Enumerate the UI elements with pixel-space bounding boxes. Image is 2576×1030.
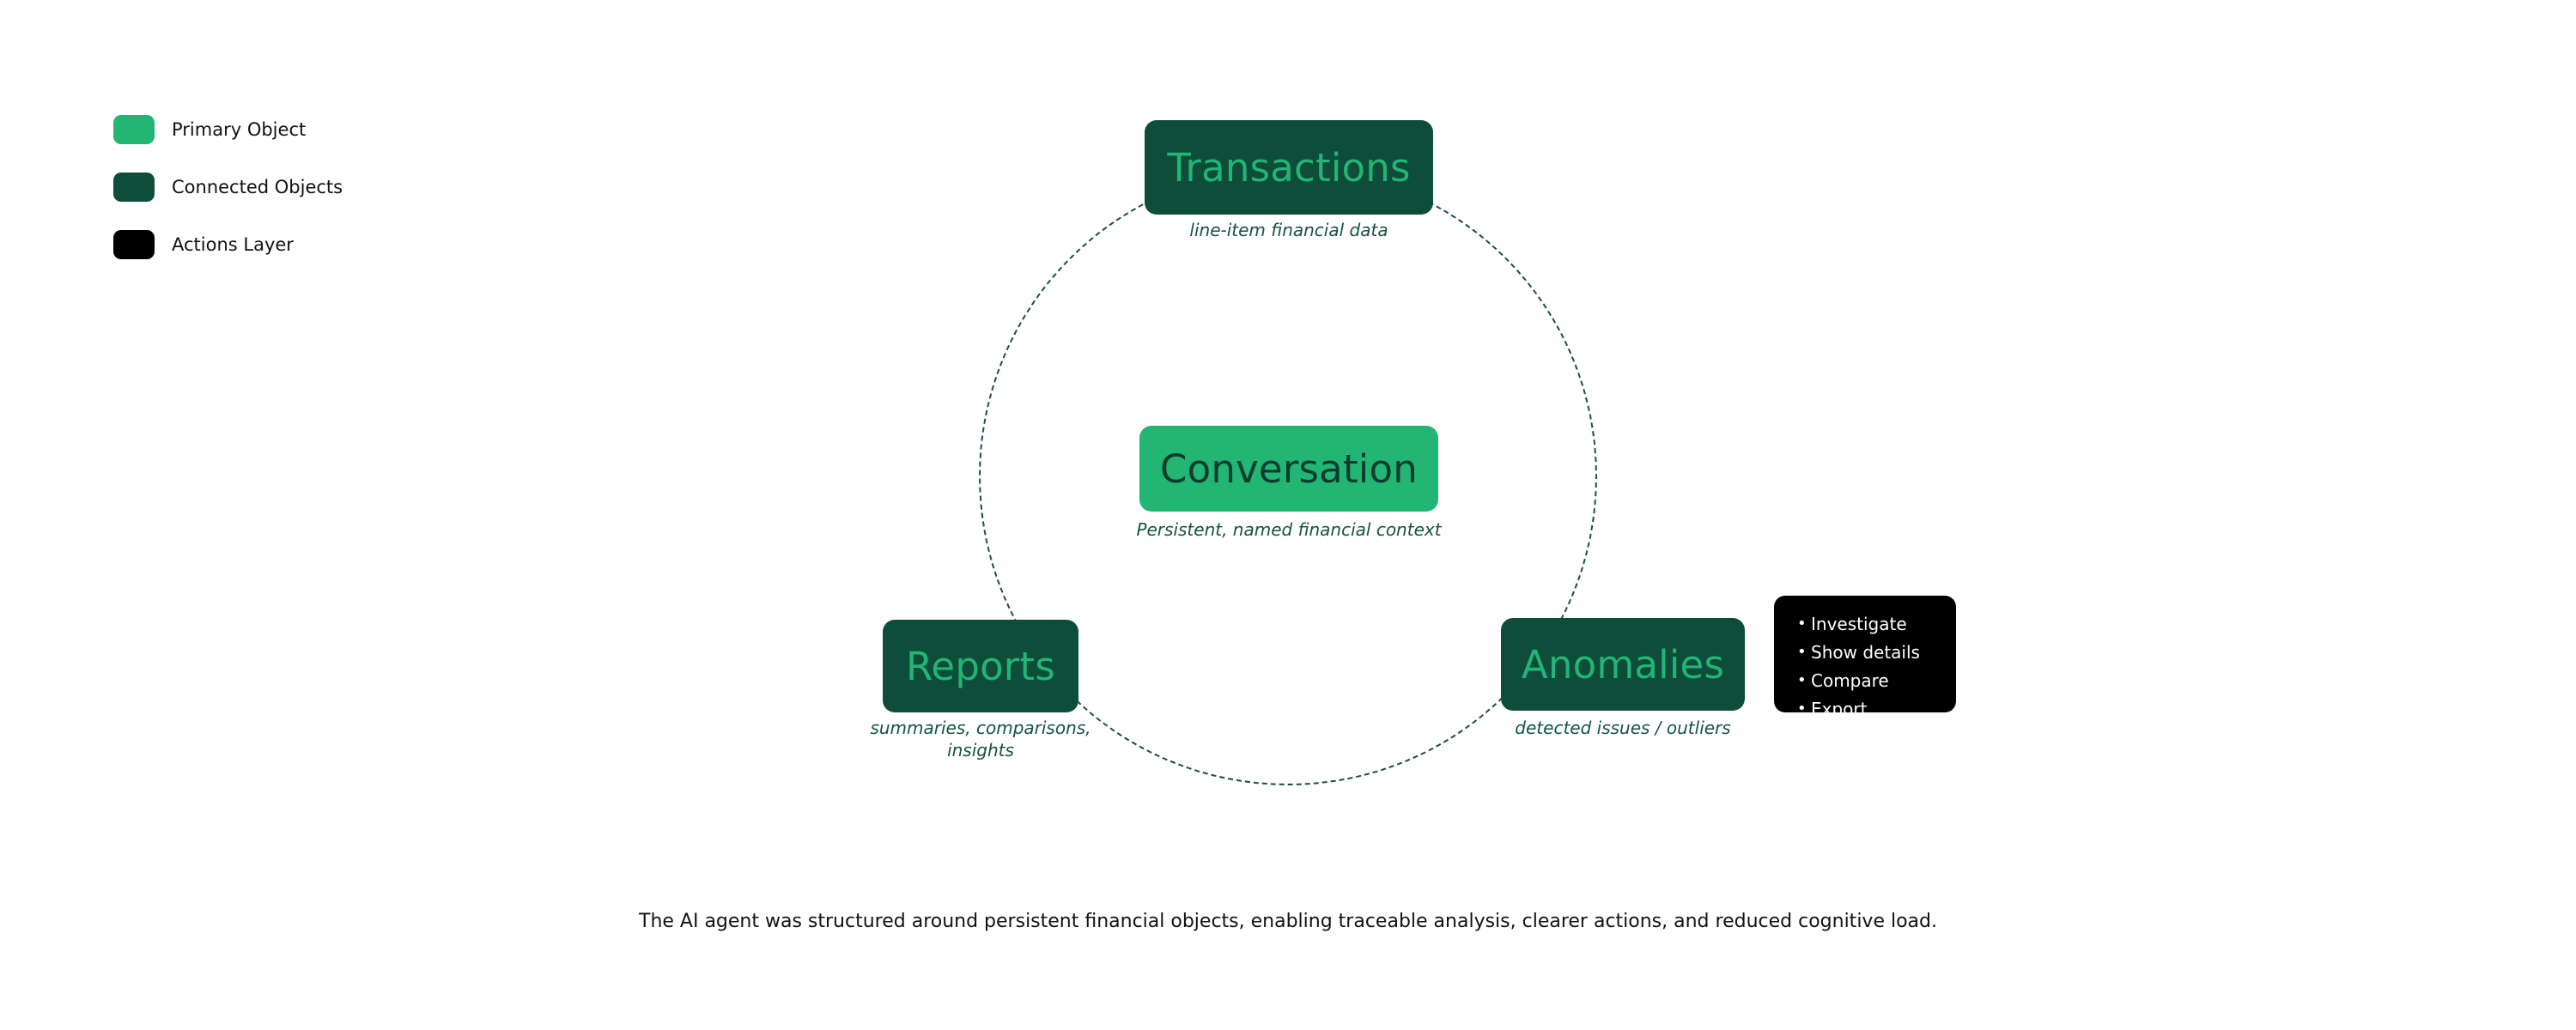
legend-item-actions-layer: Actions Layer bbox=[113, 230, 474, 259]
action-item-label: Compare bbox=[1811, 672, 1889, 689]
node-reports-label: Reports bbox=[906, 647, 1055, 686]
legend-item-primary-object: Primary Object bbox=[113, 115, 474, 144]
node-reports-caption: summaries, comparisons, insights bbox=[824, 718, 1137, 761]
bullet-icon: • bbox=[1797, 645, 1811, 660]
footer-caption: The AI agent was structured around persi… bbox=[0, 910, 2576, 935]
legend-item-connected-objects: Connected Objects bbox=[113, 173, 474, 202]
legend: Primary Object Connected Objects Actions… bbox=[113, 115, 474, 288]
legend-item-label: Connected Objects bbox=[172, 179, 343, 197]
legend-item-label: Actions Layer bbox=[172, 236, 294, 254]
actions-layer-swatch-icon bbox=[113, 230, 155, 259]
bullet-icon: • bbox=[1797, 701, 1811, 717]
action-item-label: Investigate bbox=[1811, 615, 1907, 633]
node-conversation-caption: Persistent, named financial context bbox=[1074, 519, 1504, 542]
node-transactions-caption: line-item financial data bbox=[1102, 220, 1476, 242]
node-transactions-label: Transactions bbox=[1167, 148, 1410, 187]
action-item-compare[interactable]: • Compare bbox=[1774, 666, 1956, 694]
actions-panel: • Investigate • Show details • Compare •… bbox=[1774, 596, 1956, 712]
connected-objects-swatch-icon bbox=[113, 173, 155, 202]
action-item-label: Export bbox=[1811, 700, 1867, 718]
bullet-icon: • bbox=[1797, 616, 1811, 632]
node-anomalies-caption: detected issues / outliers bbox=[1460, 718, 1786, 740]
node-conversation[interactable]: Conversation bbox=[1139, 426, 1438, 512]
action-item-investigate[interactable]: • Investigate bbox=[1774, 609, 1956, 638]
node-reports[interactable]: Reports bbox=[883, 620, 1078, 712]
node-anomalies[interactable]: Anomalies bbox=[1501, 618, 1745, 711]
action-item-show-details[interactable]: • Show details bbox=[1774, 638, 1956, 666]
node-transactions[interactable]: Transactions bbox=[1145, 120, 1433, 215]
bullet-icon: • bbox=[1797, 673, 1811, 688]
diagram-canvas: Primary Object Connected Objects Actions… bbox=[0, 0, 2576, 1030]
legend-item-label: Primary Object bbox=[172, 121, 306, 139]
node-conversation-label: Conversation bbox=[1160, 450, 1418, 488]
primary-object-swatch-icon bbox=[113, 115, 155, 144]
action-item-export[interactable]: • Export bbox=[1774, 694, 1956, 723]
action-item-label: Show details bbox=[1811, 644, 1920, 661]
node-anomalies-label: Anomalies bbox=[1522, 645, 1724, 684]
